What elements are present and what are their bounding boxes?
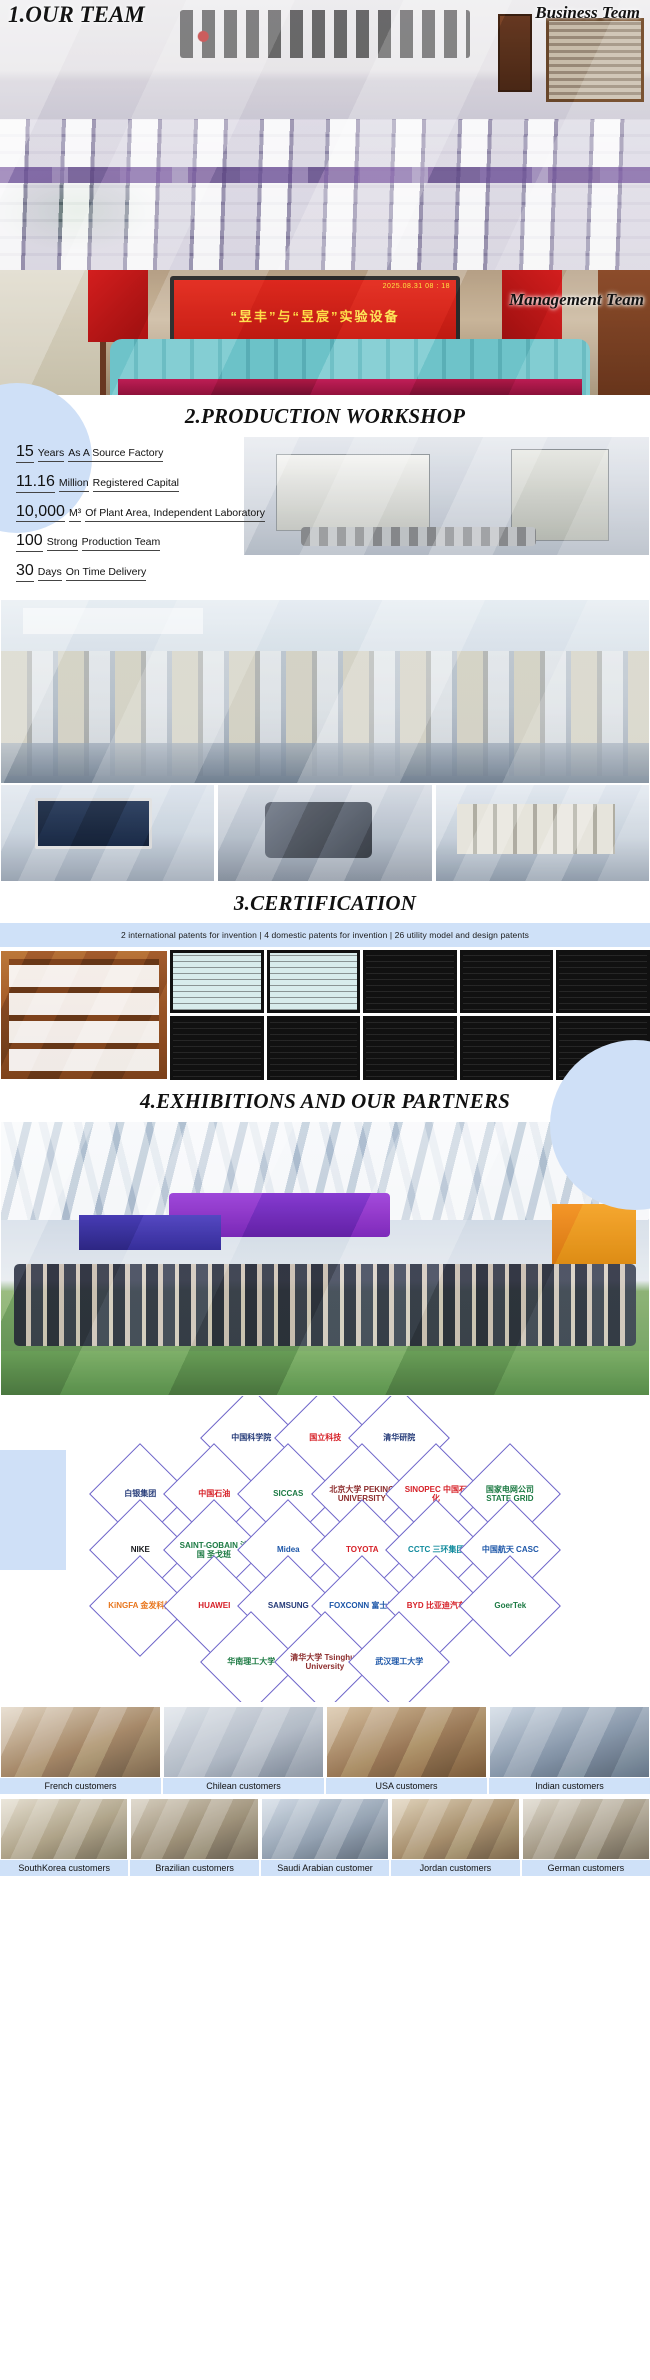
red-flag-left (88, 270, 148, 342)
section-header-exhibitions: 4.EXHIBITIONS AND OUR PARTNERS (0, 1080, 650, 1121)
stat-number: 15 (16, 444, 34, 463)
customer-strip-row-2: SouthKorea customers Brazilian customers… (0, 1798, 650, 1876)
section-header-production: 2.PRODUCTION WORKSHOP (0, 395, 650, 436)
equipment-photo (243, 436, 650, 556)
customer-cell: Indian customers (489, 1706, 650, 1794)
customer-cell: SouthKorea customers (0, 1798, 128, 1876)
partners-logo-grid: 中国科学院 国立科技 清华研院 白银集团 中国石油 SICCAS 北京大学 PE… (0, 1396, 650, 1702)
assembly-machine-photo (217, 784, 432, 882)
customer-cell: Saudi Arabian customer (261, 1798, 389, 1876)
workshop-wide-photo (0, 599, 650, 784)
stat-text: As A Source Factory (68, 447, 163, 462)
exhibition-booth-blue (79, 1215, 222, 1250)
exhibition-booth-orange (552, 1204, 636, 1264)
stat-unit: Strong (47, 536, 78, 551)
partner-label: GoerTek (475, 1601, 545, 1610)
customer-caption: German customers (522, 1860, 650, 1876)
customer-caption: SouthKorea customers (0, 1860, 128, 1876)
customer-caption: Jordan customers (391, 1860, 519, 1876)
led-banner-text: “昱丰”与“昱宸”实验设备 (174, 306, 456, 325)
customer-cell: German customers (522, 1798, 650, 1876)
customer-photo (130, 1798, 258, 1860)
stat-number: 100 (16, 533, 43, 552)
engineering-cad-photo (0, 784, 215, 882)
partner-label: 武汉理工大学 (364, 1657, 434, 1666)
customer-cell: French customers (0, 1706, 161, 1794)
page-title-production: 2.PRODUCTION WORKSHOP (185, 404, 465, 429)
office-door (498, 14, 532, 92)
stat-unit: Years (38, 447, 64, 462)
partner-label: 中国航天 CASC (475, 1545, 545, 1554)
stat-item: 11.16 Million Registered Capital (16, 474, 243, 493)
customer-strip-row-1: French customers Chilean customers USA c… (0, 1706, 650, 1794)
stat-text: Production Team (82, 536, 161, 551)
section-header-certification: 3.CERTIFICATION (0, 882, 650, 923)
customer-photo (163, 1706, 324, 1778)
customer-caption: Saudi Arabian customer (261, 1860, 389, 1876)
office-team-photo: 1.OUR TEAM Business Team (0, 0, 650, 270)
certificate-frame (460, 950, 554, 1014)
label-business-team: Business Team (535, 3, 640, 23)
stat-item: 30 Days On Time Delivery (16, 563, 243, 582)
stat-item: 10,000 M³ Of Plant Area, Independent Lab… (16, 504, 243, 523)
customer-caption: Indian customers (489, 1778, 650, 1794)
certificate-frame (267, 1016, 361, 1080)
partner-row: 华南理工大学 清华大学 Tsinghua University 武汉理工大学 (0, 1626, 650, 1698)
led-banner-screen: 2025.08.31 08 : 18 “昱丰”与“昱宸”实验设备 (170, 276, 460, 346)
certificate-frame (170, 950, 264, 1014)
workshop-floor (1, 743, 649, 783)
meeting-room-wood-door (598, 270, 650, 395)
production-line-photo (435, 784, 650, 882)
label-management-team: Management Team (509, 290, 644, 310)
stat-item: 100 Strong Production Team (16, 533, 243, 552)
stat-unit: M³ (69, 507, 81, 522)
page-title-exhibitions: 4.EXHIBITIONS AND OUR PARTNERS (140, 1089, 510, 1114)
machine-roller (301, 527, 536, 546)
customer-caption: French customers (0, 1778, 161, 1794)
exhibition-green-carpet (1, 1351, 649, 1395)
exhibition-group-photo (0, 1121, 650, 1396)
page-title-certification: 3.CERTIFICATION (234, 891, 416, 916)
certificate-frame (267, 950, 361, 1014)
customer-caption: Brazilian customers (130, 1860, 258, 1876)
certificate-frame (363, 1016, 457, 1080)
workshop-wall-slogan (23, 608, 203, 634)
machine-unit-a (276, 454, 430, 532)
customer-photo (391, 1798, 519, 1860)
stat-number: 30 (16, 563, 34, 582)
company-profile-page: 1.OUR TEAM Business Team 2025.08.31 08 :… (0, 0, 650, 1876)
certificate-frame (460, 1016, 554, 1080)
stat-text: Of Plant Area, Independent Laboratory (85, 507, 265, 522)
customer-photo (326, 1706, 487, 1778)
stat-number: 11.16 (16, 474, 55, 493)
workshop-detail-photo-row (0, 784, 650, 882)
stat-number: 10,000 (16, 504, 65, 523)
stat-item: 15 Years As A Source Factory (16, 444, 243, 463)
customer-caption: USA customers (326, 1778, 487, 1794)
section-title-our-team: 1.OUR TEAM (8, 2, 145, 28)
certification-photo-row (0, 950, 650, 1080)
customer-cell: Jordan customers (391, 1798, 519, 1876)
stat-text: Registered Capital (93, 477, 179, 492)
stat-unit: Million (59, 477, 89, 492)
management-team-photo: 2025.08.31 08 : 18 “昱丰”与“昱宸”实验设备 Managem… (0, 270, 650, 395)
certificate-frame (363, 950, 457, 1014)
patents-banner: 2 international patents for invention | … (0, 923, 650, 947)
customer-cell: USA customers (326, 1706, 487, 1794)
partner-label: 清华研院 (364, 1433, 434, 1442)
cubicle-purple-band (0, 167, 650, 183)
customer-cell: Brazilian customers (130, 1798, 258, 1876)
customer-photo (0, 1706, 161, 1778)
production-stats-row: 15 Years As A Source Factory 11.16 Milli… (0, 436, 650, 599)
customer-photo (0, 1798, 128, 1860)
stat-text: On Time Delivery (66, 566, 147, 581)
cubicle-array (0, 119, 650, 270)
stats-list: 15 Years As A Source Factory 11.16 Milli… (0, 436, 243, 599)
led-banner-date: 2025.08.31 08 : 18 (383, 283, 450, 290)
exhibition-staff-group (14, 1264, 636, 1346)
wall-slogan-art (180, 10, 470, 58)
customer-caption: Chilean customers (163, 1778, 324, 1794)
certificate-frame (556, 950, 650, 1014)
customer-photo (522, 1798, 650, 1860)
partner-rows: 中国科学院 国立科技 清华研院 白银集团 中国石油 SICCAS 北京大学 PE… (0, 1402, 650, 1698)
stat-unit: Days (38, 566, 62, 581)
customer-cell: Chilean customers (163, 1706, 324, 1794)
certificate-display-shelf (0, 950, 168, 1080)
window-blinds (546, 18, 644, 102)
customer-photo (489, 1706, 650, 1778)
customer-photo (261, 1798, 389, 1860)
certificate-frame (170, 1016, 264, 1080)
conference-table (118, 379, 582, 395)
